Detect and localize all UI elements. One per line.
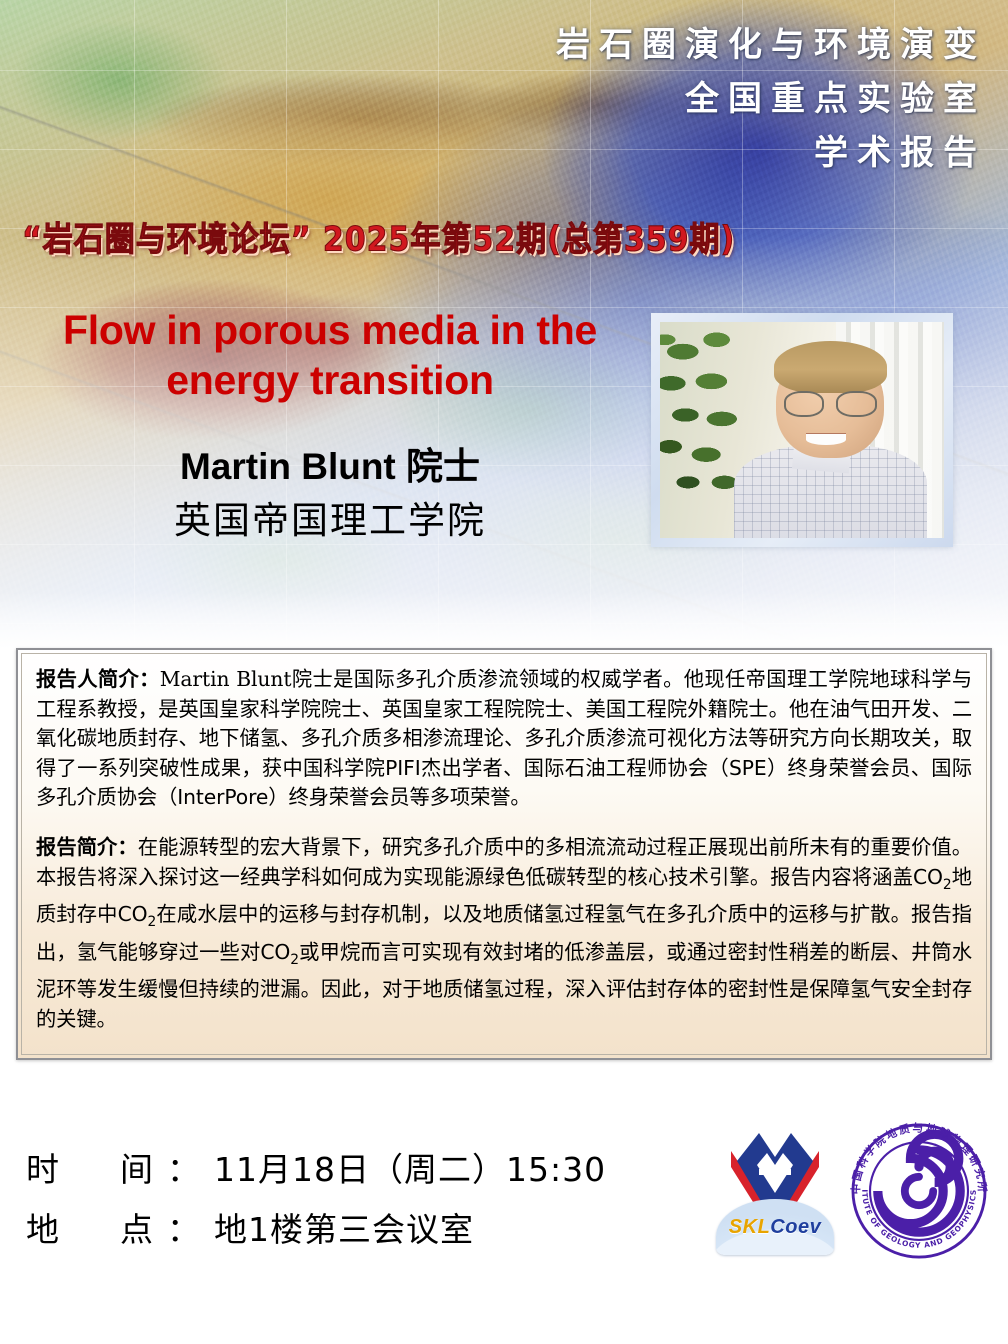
talk-abstract-sub-2: 2 bbox=[148, 914, 157, 930]
event-details: 时 间：11月18日（周二）15:30 地 点：地1楼第三会议室 bbox=[26, 1140, 606, 1260]
skl-logo-text-part2: Coev bbox=[770, 1216, 821, 1238]
photo-glasses-right-lens bbox=[836, 391, 877, 417]
poster-root: 岩石圈演化与环境演变 全国重点实验室 学术报告 “岩石圈与环境论坛” 2025年… bbox=[0, 0, 1008, 1344]
skl-logo-text: SKLCoev bbox=[716, 1216, 834, 1239]
header-line-1: 岩石圈演化与环境演变 bbox=[556, 18, 986, 72]
speaker-affiliation: 英国帝国理工学院 bbox=[20, 494, 640, 548]
event-place-value: 地1楼第三会议室 bbox=[214, 1210, 474, 1249]
speaker-photo-frame bbox=[651, 313, 953, 547]
header-line-2: 全国重点实验室 bbox=[556, 72, 986, 126]
talk-abstract-part-a: 在能源转型的宏大背景下，研究多孔介质中的多相流流动过程正展现出前所未有的重要价值… bbox=[36, 835, 972, 889]
talk-title-line-2: energy transition bbox=[20, 355, 640, 405]
event-place-row: 地 点：地1楼第三会议室 bbox=[26, 1200, 606, 1260]
logo-row: SKLCoev 中国科学院地质与地球物理研究所 INSTITUTE OF GEO… bbox=[716, 1120, 990, 1262]
talk-title: Flow in porous media in the energy trans… bbox=[20, 305, 640, 405]
event-time-value: 11月18日（周二）15:30 bbox=[214, 1150, 606, 1189]
speaker-bio-paragraph: 报告人简介：Martin Blunt院士是国际多孔介质渗流领域的权威学者。他现任… bbox=[36, 665, 972, 813]
abstract-box: 报告人简介：Martin Blunt院士是国际多孔介质渗流领域的权威学者。他现任… bbox=[16, 648, 992, 1060]
speaker-block: Martin Blunt 院士 英国帝国理工学院 bbox=[20, 440, 640, 548]
speaker-name: Martin Blunt 院士 bbox=[20, 440, 640, 494]
speaker-bio-name: Martin Blunt bbox=[160, 667, 292, 691]
talk-abstract-paragraph: 报告简介：在能源转型的宏大背景下，研究多孔介质中的多相流流动过程正展现出前所未有… bbox=[36, 833, 972, 1035]
event-time-label: 时 间： bbox=[26, 1150, 214, 1189]
event-place-label: 地 点： bbox=[26, 1210, 214, 1249]
skl-coev-logo: SKLCoev bbox=[716, 1121, 834, 1261]
photo-hair bbox=[774, 341, 888, 393]
abstract-box-inner: 报告人简介：Martin Blunt院士是国际多孔介质渗流领域的权威学者。他现任… bbox=[21, 653, 987, 1055]
talk-title-line-1: Flow in porous media in the bbox=[20, 305, 640, 355]
speaker-photo bbox=[660, 322, 944, 538]
event-time-row: 时 间：11月18日（周二）15:30 bbox=[26, 1140, 606, 1200]
talk-abstract-label: 报告简介： bbox=[36, 835, 138, 859]
header-titles: 岩石圈演化与环境演变 全国重点实验室 学术报告 bbox=[556, 18, 986, 180]
igg-cas-seal: 中国科学院地质与地球物理研究所 INSTITUTE OF GEOLOGY AND… bbox=[848, 1120, 990, 1262]
skl-logo-text-part1: SKL bbox=[729, 1216, 771, 1238]
forum-series-banner: “岩石圈与环境论坛” 2025年第52期(总第359期) bbox=[22, 211, 735, 260]
photo-glasses-left-lens bbox=[784, 391, 825, 417]
talk-abstract-sub-3: 2 bbox=[290, 952, 299, 968]
talk-abstract-sub-1: 2 bbox=[943, 877, 952, 893]
header-line-3: 学术报告 bbox=[556, 126, 986, 180]
speaker-bio-label: 报告人简介： bbox=[36, 667, 160, 691]
